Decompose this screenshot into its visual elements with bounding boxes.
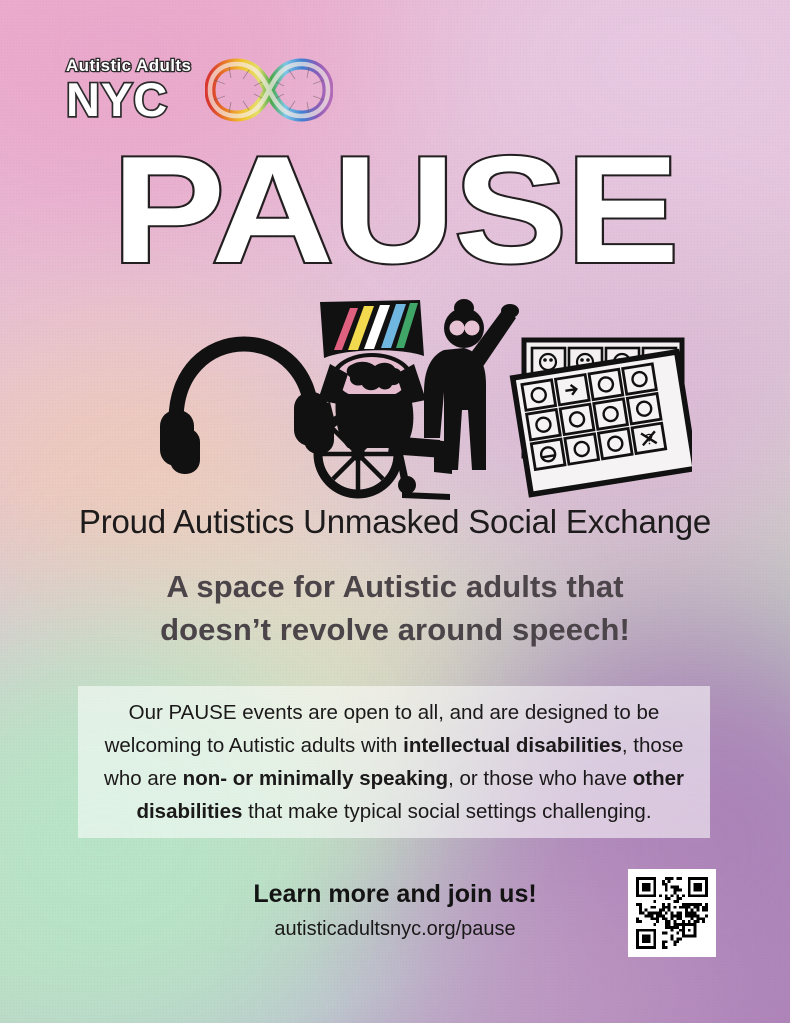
brand-logo-line1: Autistic Adults xyxy=(66,57,191,74)
body-paragraph: Our PAUSE events are open to all, and ar… xyxy=(78,696,710,829)
headphones-icon xyxy=(160,344,334,474)
rainbow-infinity-icon xyxy=(205,58,333,122)
pause-illustration: ? xyxy=(152,288,692,500)
qr-code-container[interactable] xyxy=(628,869,716,957)
subtitle: Proud Autistics Unmasked Social Exchange xyxy=(0,503,790,541)
body-text-panel: Our PAUSE events are open to all, and ar… xyxy=(78,686,710,838)
body-emphasis: non- or minimally speaking xyxy=(183,767,448,790)
brand-logo-line2: NYC xyxy=(66,76,168,123)
aac-communication-boards-icon: ? xyxy=(513,340,692,494)
poster: Autistic Adults NYC xyxy=(0,0,790,1023)
tagline: A space for Autistic adults that doesn’t… xyxy=(95,566,695,652)
tagline-line-1: A space for Autistic adults that xyxy=(95,566,695,609)
page-title: PAUSE xyxy=(0,150,790,295)
page-title-text: PAUSE xyxy=(112,150,678,290)
brand-logo-wordmark: Autistic Adults NYC xyxy=(66,57,191,123)
tagline-line-2: doesn’t revolve around speech! xyxy=(95,609,695,652)
body-emphasis: intellectual disabilities xyxy=(403,734,622,757)
qr-code[interactable] xyxy=(636,877,708,949)
brand-logo: Autistic Adults NYC xyxy=(66,57,333,123)
